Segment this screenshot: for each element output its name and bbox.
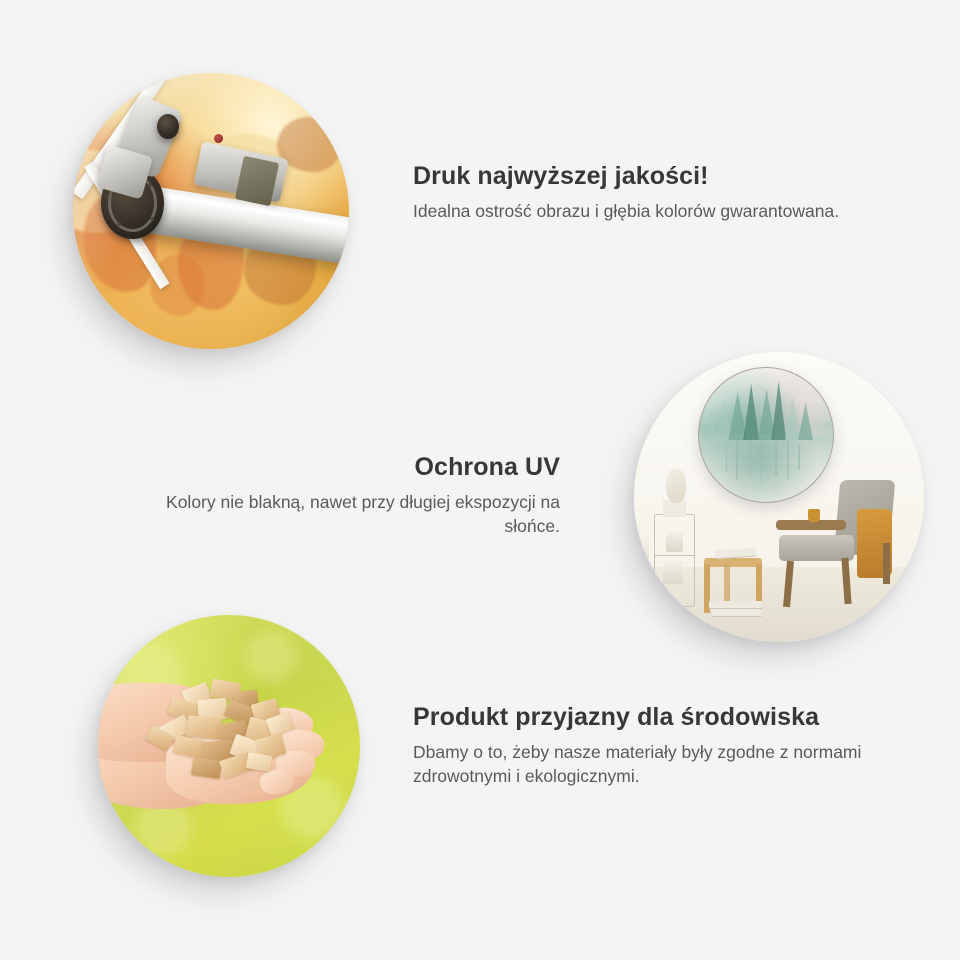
uv-protection-description: Kolory nie blakną, nawet przy długiej ek… xyxy=(160,490,560,540)
feature-highlights-panel: Druk najwyższej jakości! Idealna ostrość… xyxy=(0,0,960,960)
uv-protection-title: Ochrona UV xyxy=(160,452,560,483)
eco-friendly-title: Produkt przyjazny dla środowiska xyxy=(413,702,893,733)
printer-head-world-map-photo xyxy=(73,73,349,349)
interior-round-forest-art-photo xyxy=(634,352,924,642)
round-forest-artwork xyxy=(698,367,834,503)
eco-friendly-description: Dbamy o to, żeby nasze materiały były zg… xyxy=(413,740,893,790)
uv-protection-text: Ochrona UV Kolory nie blakną, nawet przy… xyxy=(160,452,560,539)
eco-friendly-image xyxy=(98,615,360,877)
print-quality-title: Druk najwyższej jakości! xyxy=(413,161,843,192)
uv-protection-image xyxy=(634,352,924,642)
eco-friendly-text: Produkt przyjazny dla środowiska Dbamy o… xyxy=(413,702,893,789)
print-quality-description: Idealna ostrość obrazu i głębia kolorów … xyxy=(413,199,843,224)
print-quality-image xyxy=(73,73,349,349)
hands-wood-chips-photo xyxy=(98,615,360,877)
print-quality-text: Druk najwyższej jakości! Idealna ostrość… xyxy=(413,161,843,223)
